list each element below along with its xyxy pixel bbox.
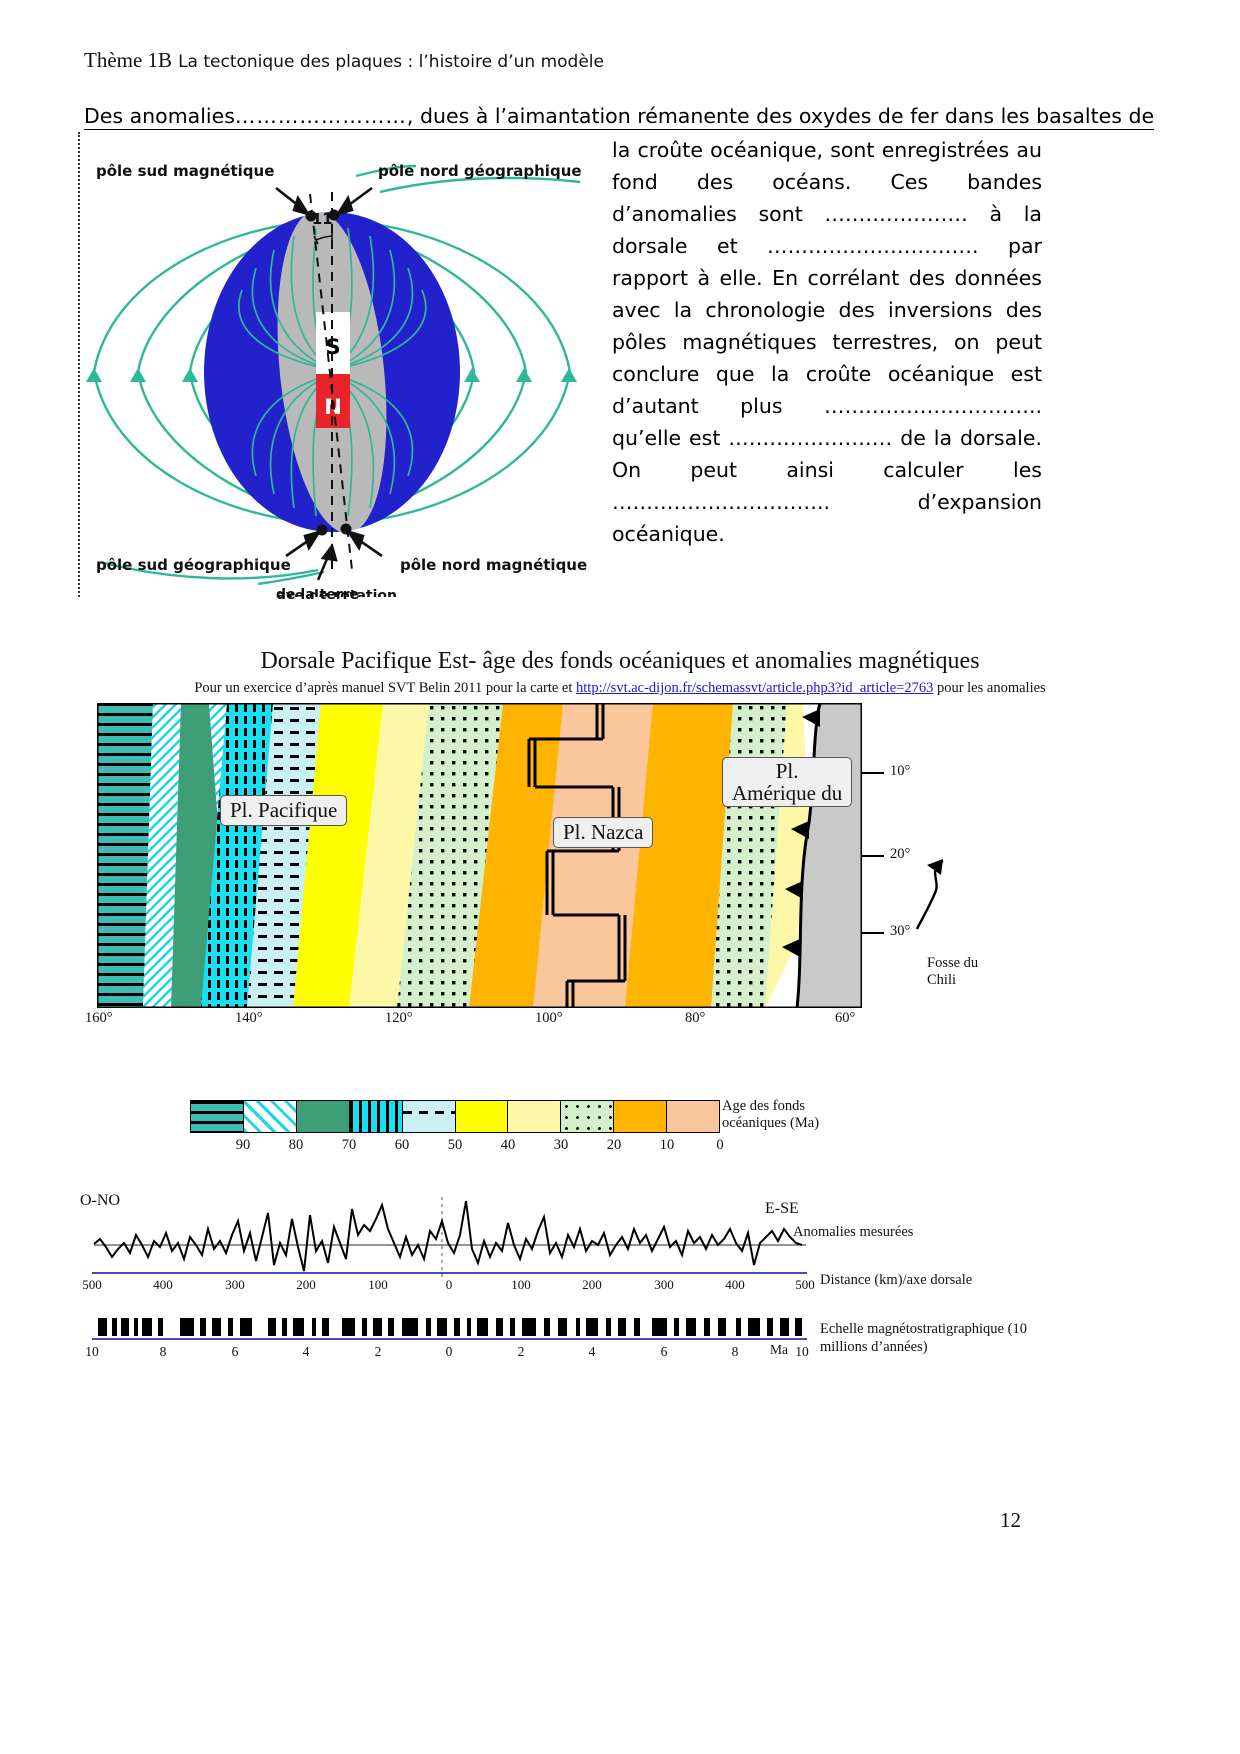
longitude-axis: 160° 140° 120° 100° 80° 60° — [80, 1010, 910, 1034]
plate-label-amerique: Pl. Amérique du — [722, 757, 852, 807]
map-subtitle: Pour un exercice d’après manuel SVT Beli… — [0, 680, 1240, 697]
mag-tick-w8: 8 — [160, 1344, 167, 1360]
mag-tick-e2: 2 — [518, 1344, 525, 1360]
distance-axis-ticks: 500 400 300 200 100 0 100 200 300 400 50… — [92, 1277, 807, 1297]
anomaly-right-label: E-SE — [765, 1200, 799, 1218]
dist-tick-0: 0 — [446, 1277, 453, 1293]
lat-label-10: 10° — [890, 763, 910, 780]
distance-axis-line — [92, 1272, 807, 1274]
age-swatch-90-80 — [244, 1101, 297, 1132]
fosse-label-line2: Chili — [927, 972, 956, 988]
dist-tick-w500: 500 — [82, 1277, 102, 1293]
age-tick-80: 80 — [289, 1137, 304, 1154]
seafloor-age-map — [97, 703, 862, 1008]
page-number: 12 — [1000, 1508, 1021, 1533]
label-pole-nord-magnetique: pôle nord magnétique — [400, 556, 587, 574]
label-pole-nord-geographique: pôle nord géographique — [378, 162, 582, 180]
map-source-link[interactable]: http://svt.ac-dijon.fr/schemassvt/articl… — [576, 680, 933, 696]
magnetostratigraphic-ticks: 10 8 6 4 2 0 2 4 6 8 10 — [92, 1344, 807, 1364]
age-swatch-20-10 — [614, 1101, 667, 1132]
mag-caption-line2: millions d’années) — [820, 1339, 928, 1355]
mag-caption-line1: Echelle magnétostratigraphique (10 — [820, 1321, 1027, 1337]
dist-tick-e200: 200 — [582, 1277, 602, 1293]
lon-label-60: 60° — [835, 1010, 855, 1027]
plate-amerique-line2: Amérique du — [732, 781, 842, 805]
worksheet-page: Thème 1BLa tectonique des plaques : l’hi… — [0, 0, 1240, 1754]
page-header: Thème 1BLa tectonique des plaques : l’hi… — [84, 48, 1084, 73]
age-swatch-10-0 — [667, 1101, 719, 1132]
lat-tick-mark-10 — [862, 772, 884, 774]
magnetostratigraphic-axis-line — [92, 1338, 807, 1340]
intro-lead-prefix: Des anomalies — [84, 104, 235, 128]
lon-label-140: 140° — [235, 1010, 263, 1027]
theme-title: Thème 1B — [84, 48, 172, 72]
dist-tick-e400: 400 — [725, 1277, 745, 1293]
dist-tick-e100: 100 — [511, 1277, 531, 1293]
anomaly-profile-chart — [80, 1185, 820, 1280]
mag-tick-0: 0 — [446, 1344, 453, 1360]
label-axe-rotation-line2: de la terre — [276, 587, 359, 603]
plate-amerique-line1: Pl. — [776, 759, 799, 783]
intro-lead-line: Des anomalies……………………, dues à l’aimantat… — [84, 104, 1039, 128]
fosse-du-chili-label: Fosse du Chili — [927, 955, 978, 989]
age-caption-line1: Age des fonds — [722, 1098, 805, 1114]
age-tick-0: 0 — [716, 1137, 723, 1154]
earth-magnetic-field-figure: S N 11° — [78, 132, 600, 597]
age-swatch-70-60 — [350, 1101, 403, 1132]
map-subtitle-before: Pour un exercice d’après manuel SVT Beli… — [194, 680, 576, 696]
lon-label-80: 80° — [685, 1010, 705, 1027]
plate-label-nazca: Pl. Nazca — [553, 817, 653, 848]
label-pole-sud-magnetique: pôle sud magnétique — [96, 162, 274, 180]
map-title: Dorsale Pacifique Est- âge des fonds océ… — [0, 648, 1240, 675]
dist-tick-w100: 100 — [368, 1277, 388, 1293]
mag-tick-e6: 6 — [661, 1344, 668, 1360]
anomaly-caption: Anomalies mesurées — [793, 1224, 913, 1241]
distance-axis: 500 400 300 200 100 0 100 200 300 400 50… — [92, 1272, 807, 1298]
lon-label-160: 160° — [85, 1010, 113, 1027]
magnetostratigraphic-unit: Ma — [770, 1342, 788, 1358]
age-legend-bar — [190, 1100, 720, 1133]
fosse-symbol-icon — [905, 855, 965, 935]
age-swatch-40-30 — [508, 1101, 561, 1132]
mag-tick-e4: 4 — [589, 1344, 596, 1360]
magnetostratigraphic-scale: 10 8 6 4 2 0 2 4 6 8 10 — [92, 1318, 807, 1364]
theme-subtitle: La tectonique des plaques : l’histoire d… — [178, 52, 604, 72]
age-swatch-100-90 — [191, 1101, 244, 1132]
mag-tick-w4: 4 — [303, 1344, 310, 1360]
mag-tick-e8: 8 — [732, 1344, 739, 1360]
age-swatch-60-50 — [403, 1101, 456, 1132]
mag-tick-e10: 10 — [795, 1344, 809, 1360]
age-tick-50: 50 — [448, 1137, 463, 1154]
distance-axis-caption: Distance (km)/axe dorsale — [820, 1272, 972, 1289]
age-swatch-80-70 — [297, 1101, 350, 1132]
age-legend-caption: Age des fonds océaniques (Ma) — [722, 1098, 819, 1132]
lon-label-120: 120° — [385, 1010, 413, 1027]
magnetostratigraphic-caption: Echelle magnétostratigraphique (10 milli… — [820, 1320, 1050, 1356]
age-tick-70: 70 — [342, 1137, 357, 1154]
age-tick-60: 60 — [395, 1137, 410, 1154]
lon-label-100: 100° — [535, 1010, 563, 1027]
dist-tick-w400: 400 — [153, 1277, 173, 1293]
dist-tick-e500: 500 — [795, 1277, 815, 1293]
age-swatch-30-20 — [561, 1101, 614, 1132]
dist-tick-w300: 300 — [225, 1277, 245, 1293]
dist-tick-e300: 300 — [654, 1277, 674, 1293]
mag-tick-w10: 10 — [85, 1344, 99, 1360]
fosse-label-line1: Fosse du — [927, 955, 978, 971]
age-tick-10: 10 — [660, 1137, 675, 1154]
mag-tick-w2: 2 — [375, 1344, 382, 1360]
mag-tick-w6: 6 — [232, 1344, 239, 1360]
dist-tick-w200: 200 — [296, 1277, 316, 1293]
magnetostratigraphic-strip — [92, 1318, 807, 1336]
label-pole-sud-geographique: pôle sud géographique — [96, 556, 291, 574]
age-caption-line2: océaniques (Ma) — [722, 1115, 819, 1131]
age-legend-ticks: 90 80 70 60 50 40 30 20 10 0 — [190, 1137, 720, 1157]
age-tick-30: 30 — [554, 1137, 569, 1154]
age-tick-40: 40 — [501, 1137, 516, 1154]
age-swatch-50-40 — [456, 1101, 509, 1132]
lat-tick-mark-20 — [862, 855, 884, 857]
age-tick-20: 20 — [607, 1137, 622, 1154]
lat-tick-mark-30 — [862, 932, 884, 934]
age-tick-90: 90 — [236, 1137, 251, 1154]
anomaly-left-label: O-NO — [80, 1192, 120, 1210]
plate-label-pacifique: Pl. Pacifique — [220, 795, 347, 826]
intro-body-text: la croûte océanique, sont enregistrées a… — [612, 134, 1042, 550]
intro-lead-blank: …………………… — [235, 104, 407, 128]
intro-lead-suffix: , dues à l’aimantation rémanente des oxy… — [407, 104, 1154, 128]
map-subtitle-after: pour les anomalies — [933, 680, 1045, 696]
